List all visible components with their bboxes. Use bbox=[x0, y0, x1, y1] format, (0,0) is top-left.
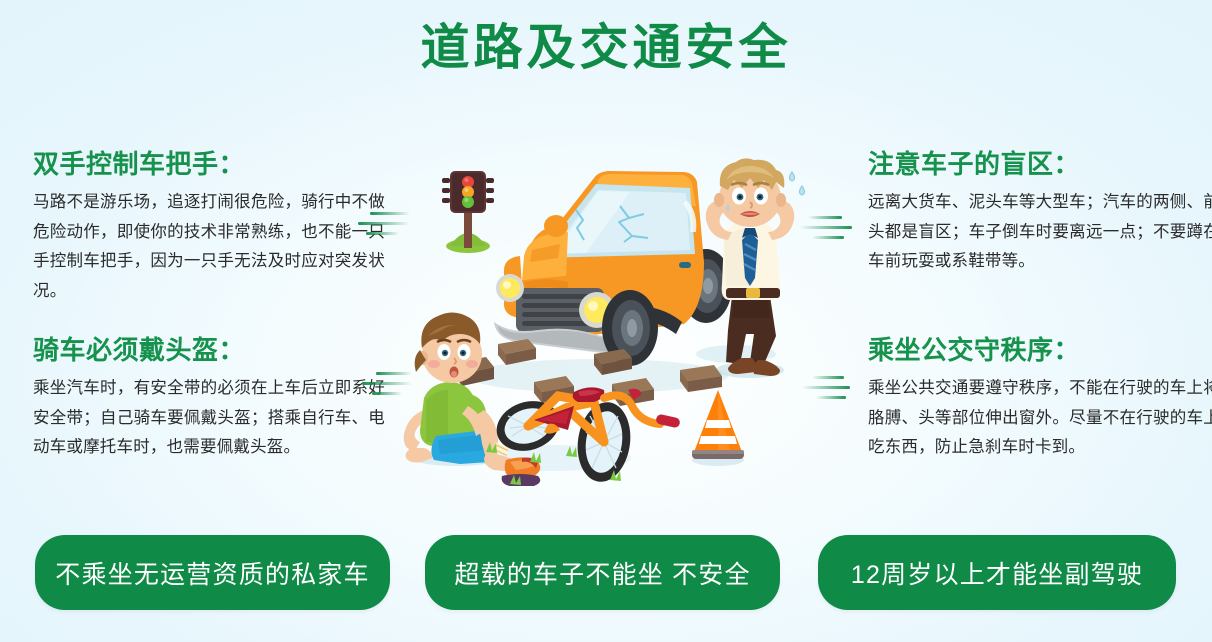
section-heading: 骑车必须戴头盔： bbox=[33, 330, 385, 367]
infographic-canvas: 道路及交通安全 双手控制车把手： 马路不是游乐场，追逐打闹很危险，骑行中不做危险… bbox=[0, 0, 1212, 642]
section-body: 乘坐汽车时，有安全带的必须在上车后立即系好安全带；自己骑车要佩戴头盔；搭乘自行车… bbox=[33, 374, 385, 463]
bottom-rules-row: 不乘坐无运营资质的私家车 超载的车子不能坐 不安全 12周岁以上才能坐副驾驶 bbox=[0, 535, 1212, 613]
section-mind-the-blind-spots: 注意车子的盲区： 远离大货车、泥头车等大型车；汽车的两侧、前头都是盲区；车子倒车… bbox=[868, 144, 1212, 277]
traffic-light-icon bbox=[442, 171, 494, 253]
section-heading: 注意车子的盲区： bbox=[868, 144, 1212, 181]
section-body: 乘坐公共交通要遵守秩序，不能在行驶的车上将胳膊、头等部位伸出窗外。尽量不在行驶的… bbox=[868, 374, 1212, 463]
rule-pill-front-seat-age-limit[interactable]: 12周岁以上才能坐副驾驶 bbox=[818, 535, 1176, 610]
section-must-wear-helmet: 骑车必须戴头盔： 乘坐汽车时，有安全带的必须在上车后立即系好安全带；自己骑车要佩… bbox=[33, 330, 385, 463]
section-heading: 乘坐公交守秩序： bbox=[868, 330, 1212, 367]
rule-pill-label: 超载的车子不能坐 不安全 bbox=[454, 555, 750, 591]
rule-pill-label: 不乘坐无运营资质的私家车 bbox=[55, 555, 369, 591]
traffic-cone-icon bbox=[692, 390, 744, 466]
page-title: 道路及交通安全 bbox=[0, 18, 1212, 79]
rule-pill-no-overloaded-vehicle[interactable]: 超载的车子不能坐 不安全 bbox=[425, 535, 780, 610]
section-order-on-public-transit: 乘坐公交守秩序： 乘坐公共交通要遵守秩序，不能在行驶的车上将胳膊、头等部位伸出窗… bbox=[868, 330, 1212, 463]
rule-pill-no-unlicensed-private-car[interactable]: 不乘坐无运营资质的私家车 bbox=[35, 535, 390, 610]
section-body: 马路不是游乐场，追逐打闹很危险，骑行中不做危险动作，即使你的技术非常熟练，也不能… bbox=[33, 188, 385, 306]
traffic-accident-illustration bbox=[398, 158, 818, 503]
section-body: 远离大货车、泥头车等大型车；汽车的两侧、前头都是盲区；车子倒车时要离远一点；不要… bbox=[868, 188, 1212, 277]
section-two-hands-on-handlebar: 双手控制车把手： 马路不是游乐场，追逐打闹很危险，骑行中不做危险动作，即使你的技… bbox=[33, 144, 385, 306]
section-heading: 双手控制车把手： bbox=[33, 144, 385, 181]
orange-car-icon bbox=[494, 171, 732, 366]
rule-pill-label: 12周岁以上才能坐副驾驶 bbox=[851, 555, 1143, 591]
